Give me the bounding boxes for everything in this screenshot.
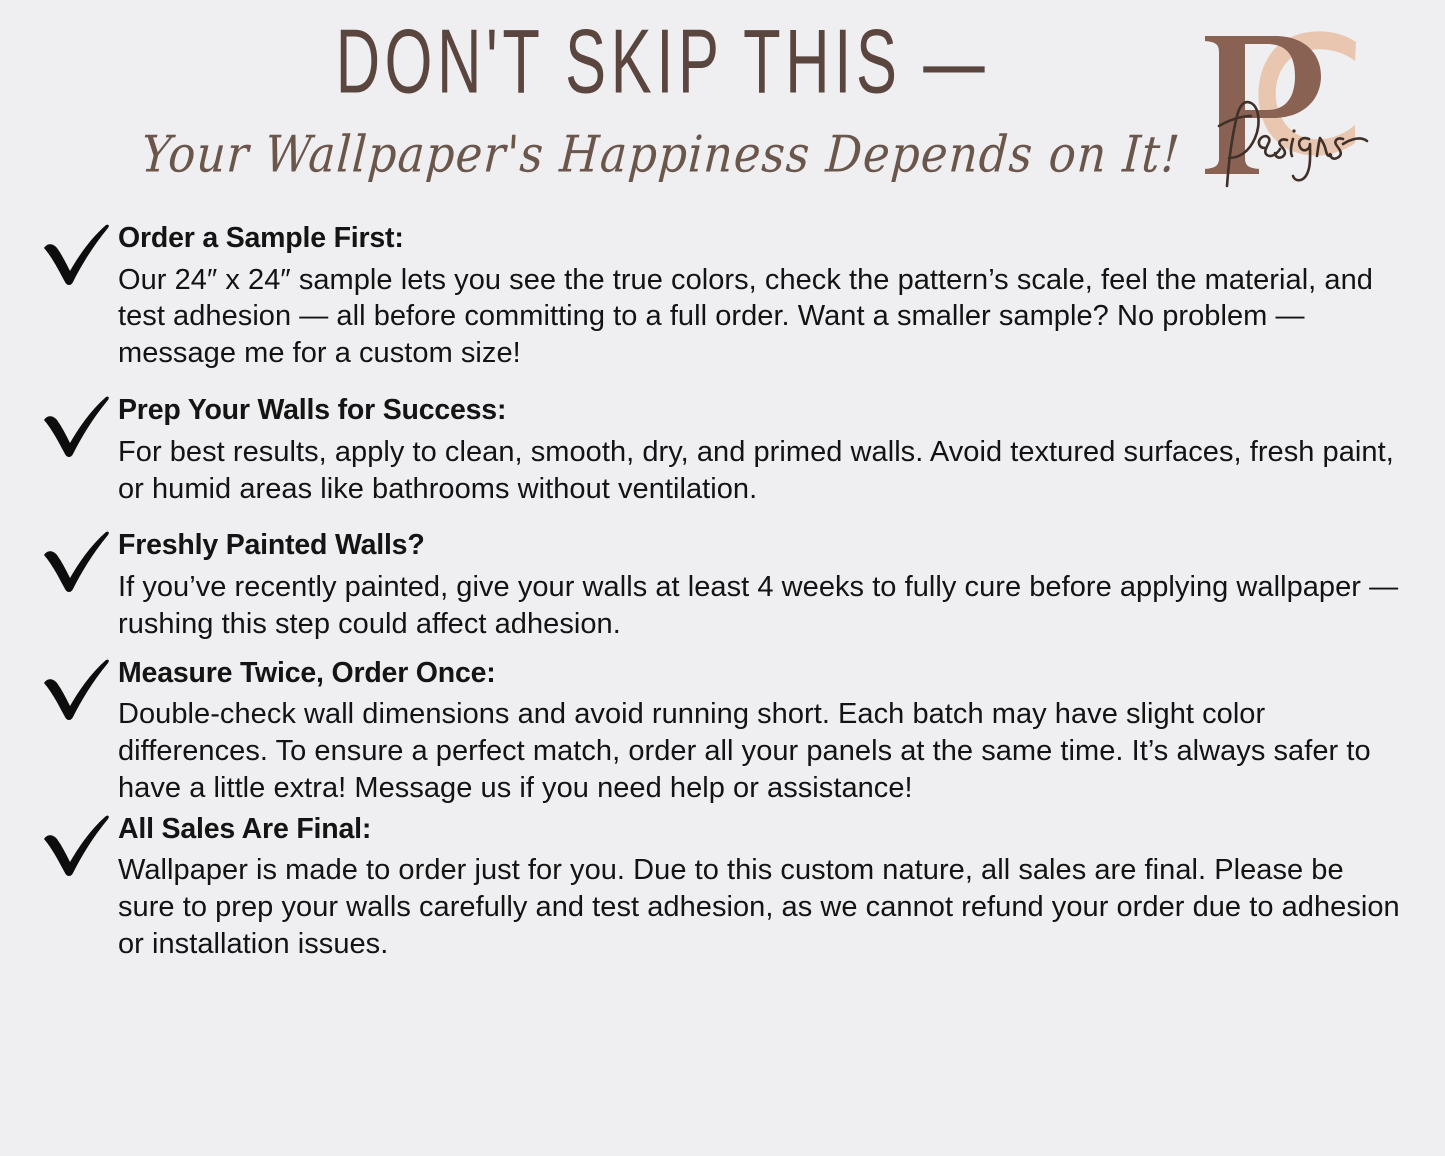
page-title: DON'T SKIP THIS — [46, 14, 1278, 110]
checkmark-icon [40, 396, 118, 458]
tip-title: Freshly Painted Walls? [118, 529, 1415, 563]
checkmark-icon [40, 659, 118, 721]
tip-body: For best results, apply to clean, smooth… [118, 434, 1408, 508]
header-banner: DON'T SKIP THIS — Your Wallpaper's Happi… [0, 0, 1445, 200]
tip-body: Wallpaper is made to order just for you.… [118, 852, 1408, 962]
list-item: Measure Twice, Order Once: Double-check … [26, 657, 1415, 807]
tip-title: Measure Twice, Order Once: [118, 657, 1415, 691]
list-item: Prep Your Walls for Success: For best re… [26, 394, 1415, 507]
tip-title: All Sales Are Final: [118, 813, 1415, 847]
page-subtitle: Your Wallpaper's Happiness Depends on It… [0, 129, 1325, 179]
checkmark-icon [40, 224, 118, 286]
tips-list: Order a Sample First: Our 24″ x 24″ samp… [0, 222, 1445, 981]
checkmark-icon [40, 815, 118, 877]
brand-logo [1183, 8, 1393, 198]
tip-title: Prep Your Walls for Success: [118, 394, 1415, 428]
checkmark-icon [40, 531, 118, 593]
list-item: Order a Sample First: Our 24″ x 24″ samp… [26, 222, 1415, 372]
tip-body: Our 24″ x 24″ sample lets you see the tr… [118, 262, 1408, 372]
list-item: All Sales Are Final: Wallpaper is made t… [26, 813, 1415, 963]
list-item: Freshly Painted Walls? If you’ve recentl… [26, 529, 1415, 642]
tip-title: Order a Sample First: [118, 222, 1415, 256]
tip-body: Double-check wall dimensions and avoid r… [118, 696, 1408, 806]
tip-body: If you’ve recently painted, give your wa… [118, 569, 1408, 643]
